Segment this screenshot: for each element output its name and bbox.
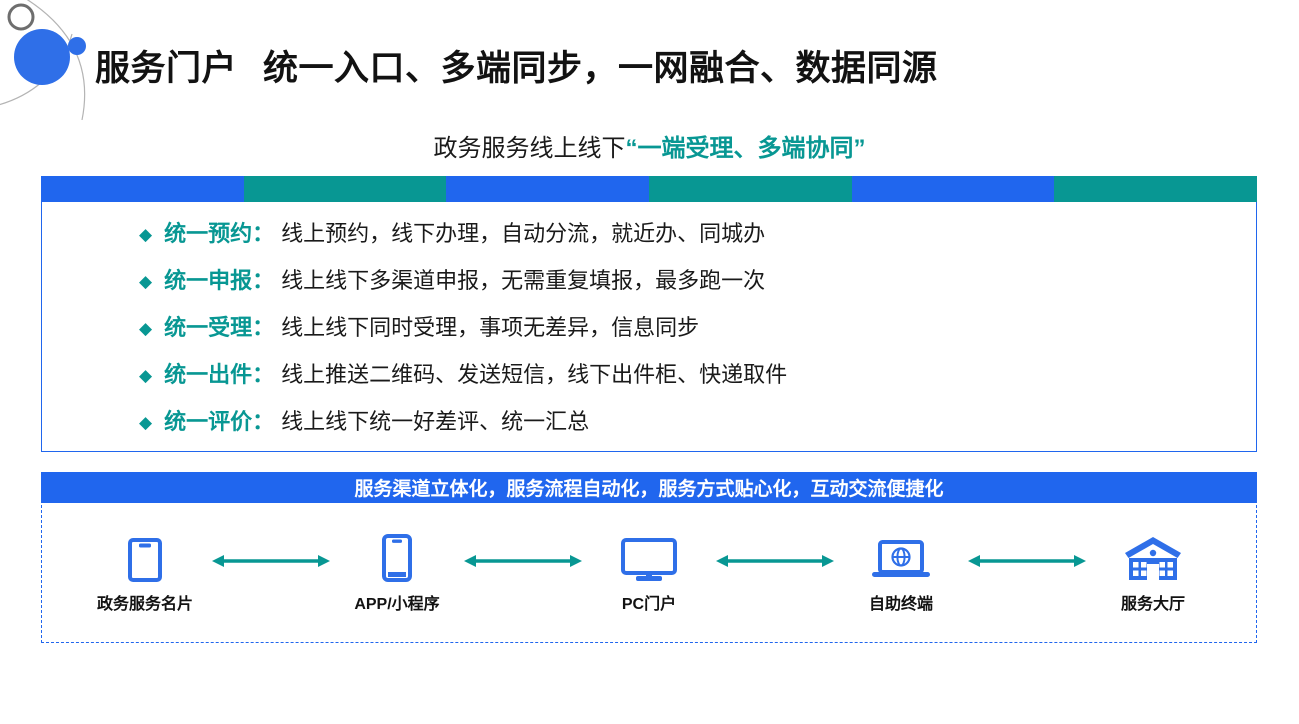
double-arrow-icon xyxy=(715,553,835,569)
subtitle-plain-text: 政务服务线上线下 xyxy=(434,135,626,162)
channel-node-self-service-terminal[interactable]: 自助终端 xyxy=(835,534,967,614)
stripe-segment xyxy=(446,176,649,202)
list-item: ◆ 统一申报： 线上线下多渠道申报，无需重复填报，最多跑一次 xyxy=(42,263,1256,310)
stripe-segment xyxy=(244,176,447,202)
list-item-label: 统一出件： xyxy=(164,357,274,389)
desktop-monitor-icon xyxy=(621,534,677,582)
diamond-bullet-icon: ◆ xyxy=(139,414,152,431)
stripe-segment xyxy=(649,176,852,202)
channel-label: 自助终端 xyxy=(869,590,933,614)
double-arrow-icon xyxy=(463,553,583,569)
channel-label: 政务服务名片 xyxy=(97,590,193,614)
stripe-bar xyxy=(41,176,1257,202)
channel-banner: 服务渠道立体化，服务流程自动化，服务方式贴心化，互动交流便捷化 xyxy=(41,472,1257,503)
channel-node-service-hall[interactable]: 服务大厅 xyxy=(1087,534,1219,614)
list-item-label: 统一预约： xyxy=(164,216,274,248)
list-item-label: 统一申报： xyxy=(164,263,274,295)
diamond-bullet-icon: ◆ xyxy=(139,226,152,243)
list-item-text: 线上线下统一好差评、统一汇总 xyxy=(281,404,589,436)
list-item: ◆ 统一预约： 线上预约，线下办理，自动分流，就近办、同城办 xyxy=(42,216,1256,263)
channel-label: 服务大厅 xyxy=(1121,590,1185,614)
channel-label: APP/小程序 xyxy=(354,590,439,614)
channel-node-id-card[interactable]: 政务服务名片 xyxy=(79,534,211,614)
list-item-text: 线上线下多渠道申报，无需重复填报，最多跑一次 xyxy=(281,263,765,295)
channel-label: PC门户 xyxy=(622,590,676,614)
diamond-bullet-icon: ◆ xyxy=(139,320,152,337)
list-item: ◆ 统一受理： 线上线下同时受理，事项无差异，信息同步 xyxy=(42,310,1256,357)
stripe-segment xyxy=(1054,176,1257,202)
double-arrow-icon xyxy=(967,553,1087,569)
subtitle: 政务服务线上线下“一端受理、多端协同” xyxy=(0,128,1299,163)
list-item-label: 统一受理： xyxy=(164,310,274,342)
page-title-main: 统一入口、多端同步，一网融合、数据同源 xyxy=(263,49,938,88)
laptop-globe-icon xyxy=(872,534,930,582)
page-header: 服务门户统一入口、多端同步，一网融合、数据同源 xyxy=(95,36,938,94)
double-arrow-icon xyxy=(211,553,331,569)
subtitle-accent-text: “一端受理、多端协同” xyxy=(626,135,866,162)
channel-banner-text: 服务渠道立体化，服务流程自动化，服务方式贴心化，互动交流便捷化 xyxy=(354,474,943,501)
stripe-segment xyxy=(41,176,244,202)
channel-node-pc-portal[interactable]: PC门户 xyxy=(583,534,715,614)
diamond-bullet-icon: ◆ xyxy=(139,367,152,384)
diamond-bullet-icon: ◆ xyxy=(139,273,152,290)
id-card-icon xyxy=(128,534,162,582)
stripe-segment xyxy=(852,176,1055,202)
list-item-text: 线上线下同时受理，事项无差异，信息同步 xyxy=(281,310,699,342)
page-title-lead: 服务门户 xyxy=(95,49,237,88)
government-building-icon xyxy=(1123,534,1183,582)
list-item-text: 线上预约，线下办理，自动分流，就近办、同城办 xyxy=(281,216,765,248)
list-item-text: 线上推送二维码、发送短信，线下出件柜、快递取件 xyxy=(281,357,787,389)
page-title: 服务门户统一入口、多端同步，一网融合、数据同源 xyxy=(95,40,938,91)
channel-node-app[interactable]: APP/小程序 xyxy=(331,534,463,614)
list-item-label: 统一评价： xyxy=(164,404,274,436)
mobile-phone-icon xyxy=(382,534,412,582)
unified-services-panel: ◆ 统一预约： 线上预约，线下办理，自动分流，就近办、同城办 ◆ 统一申报： 线… xyxy=(41,202,1257,452)
list-item: ◆ 统一评价： 线上线下统一好差评、统一汇总 xyxy=(42,404,1256,451)
channel-row: 政务服务名片 APP/小程序 xyxy=(41,505,1257,643)
list-item: ◆ 统一出件： 线上推送二维码、发送短信，线下出件柜、快递取件 xyxy=(42,357,1256,404)
